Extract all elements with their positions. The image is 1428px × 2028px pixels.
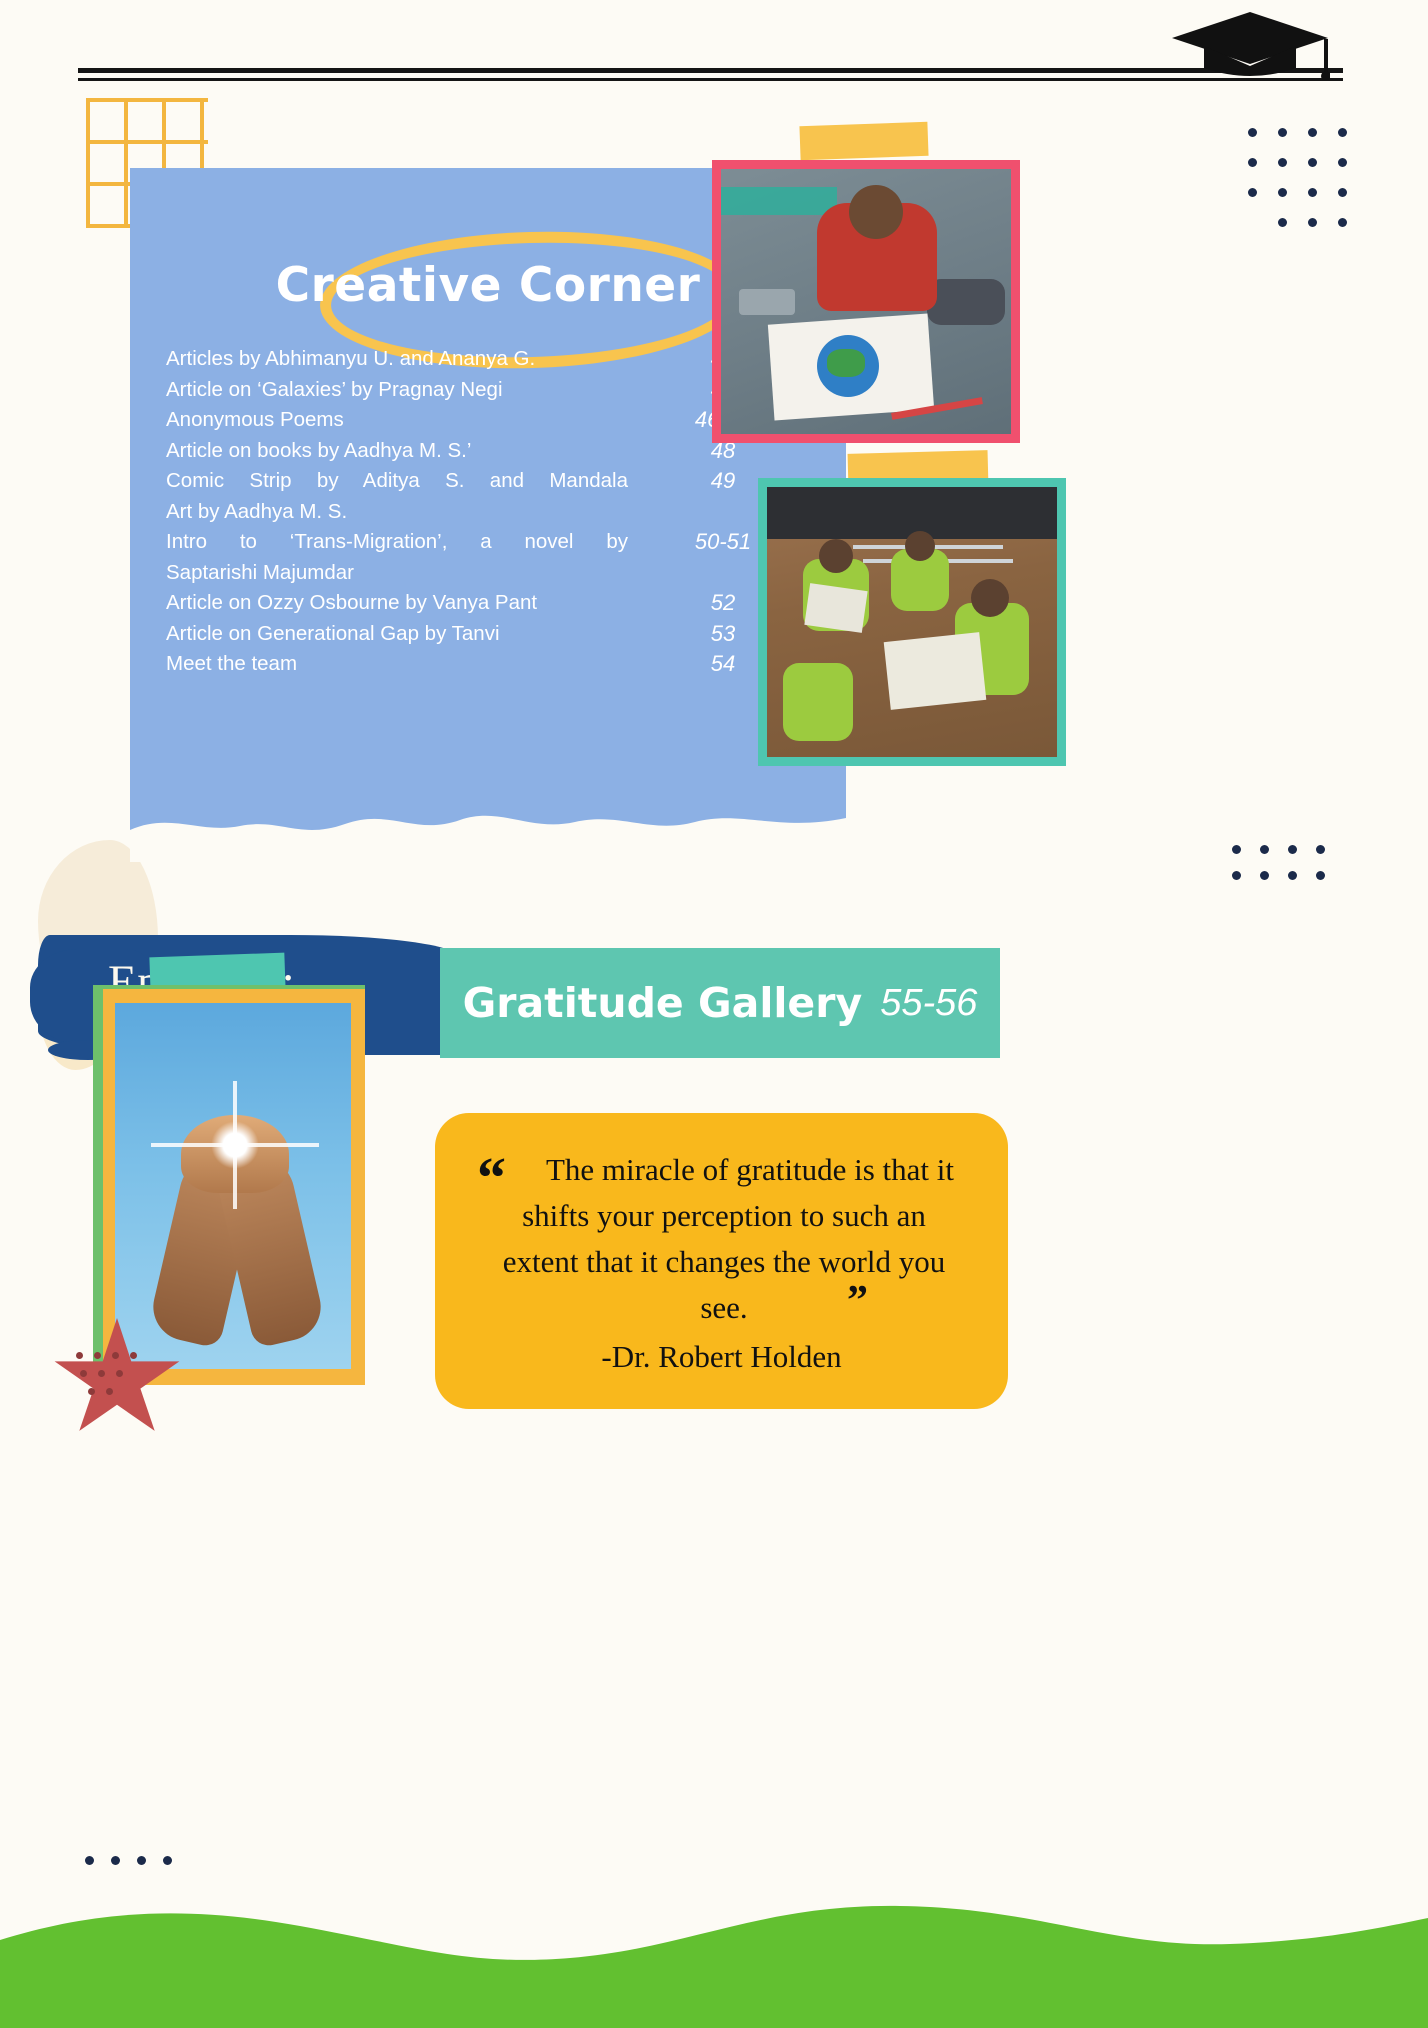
quote-author: -Dr. Robert Holden xyxy=(435,1339,1008,1375)
list-item[interactable]: Article on Generational Gap by Tanvi 53 xyxy=(148,619,828,650)
list-item[interactable]: Saptarishi Majumdar xyxy=(148,558,828,589)
toc-entry-label: Saptarishi Majumdar xyxy=(148,558,628,589)
toc-entry-label: Articles by Abhimanyu U. and Ananya G. xyxy=(148,344,628,375)
toc-entry-label: Article on books by Aadhya M. S.’ xyxy=(148,436,628,467)
gratitude-pages: 55-56 xyxy=(880,982,977,1025)
tape-strip-photo1 xyxy=(799,122,928,160)
photo-students-group-activity xyxy=(758,478,1066,766)
toc-entry-label: Anonymous Poems xyxy=(148,405,628,436)
toc-entry-label: Comic Strip by Aditya S. and Mandala xyxy=(148,466,628,497)
magazine-page: Creative Corner Articles by Abhimanyu U.… xyxy=(0,0,1428,2028)
top-rule-thick xyxy=(78,68,1343,73)
quote-body: The miracle of gratitude is that it shif… xyxy=(503,1152,954,1325)
gratitude-quote-card: “ The miracle of gratitude is that it sh… xyxy=(435,1113,1008,1409)
bottom-wave-decoration xyxy=(0,1888,1428,2028)
photo-student-painting-earth xyxy=(712,160,1020,443)
toc-entry-label: Article on ‘Galaxies’ by Pragnay Negi xyxy=(148,375,628,406)
dot-grid-mid-right xyxy=(1232,845,1342,905)
gratitude-banner-content: Gratitude Gallery 55-56 xyxy=(440,948,1000,1058)
toc-entry-label: Art by Aadhya M. S. xyxy=(148,497,628,528)
toc-entry-label: Meet the team xyxy=(148,649,628,680)
star-dot-pattern xyxy=(76,1352,154,1400)
list-item[interactable]: Article on Ozzy Osbourne by Vanya Pant 5… xyxy=(148,588,828,619)
toc-entry-label: Intro to ‘Trans-Migration’, a novel by xyxy=(148,527,628,558)
gratitude-title: Gratitude Gallery xyxy=(463,979,863,1027)
list-item[interactable]: Intro to ‘Trans-Migration’, a novel by 5… xyxy=(148,527,828,558)
toc-entry-label: Article on Ozzy Osbourne by Vanya Pant xyxy=(148,588,628,619)
toc-entry-label: Article on Generational Gap by Tanvi xyxy=(148,619,628,650)
graduation-cap-icon xyxy=(1170,8,1330,80)
photo-hands-gratitude xyxy=(93,985,365,1385)
quote-text: The miracle of gratitude is that it shif… xyxy=(483,1147,965,1331)
list-item[interactable]: Meet the team 54 xyxy=(148,649,828,680)
panel-torn-edge xyxy=(130,800,846,862)
list-item[interactable]: Art by Aadhya M. S. xyxy=(148,497,828,528)
top-rule-thin xyxy=(78,78,1343,81)
dot-grid-top-right xyxy=(1248,128,1348,233)
list-item[interactable]: Comic Strip by Aditya S. and Mandala 49 xyxy=(148,466,828,497)
dot-row-bottom-left xyxy=(85,1856,175,1876)
quote-close-icon: ” xyxy=(847,1277,868,1325)
